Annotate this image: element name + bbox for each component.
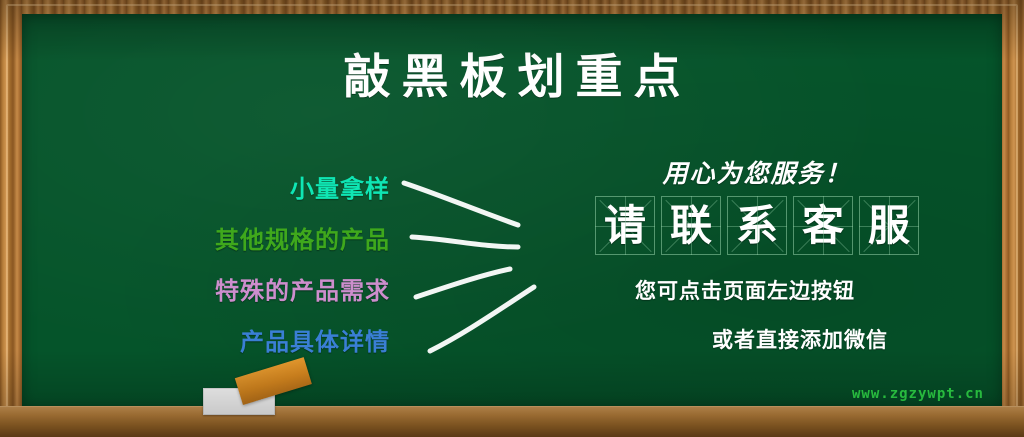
list-item-special-needs: 特殊的产品需求: [22, 266, 390, 317]
chalk-tray: [0, 407, 1024, 437]
grid-char-3: 系: [728, 197, 786, 254]
connector-stroke-4: [430, 287, 534, 351]
grid-cell-5: 服: [859, 196, 919, 255]
grid-char-2: 联: [662, 197, 720, 254]
grid-cell-3: 系: [727, 196, 787, 255]
contact-panel: 用心为您服务！ 请 联 系 客: [522, 154, 992, 354]
blackboard-banner: 敲黑板划重点 小量拿样 其他规格的产品 特殊的产品需求 产品具体详情 用心为您服…: [0, 0, 1024, 437]
grid-cell-1: 请: [595, 196, 655, 255]
keyword-list: 小量拿样 其他规格的产品 特殊的产品需求 产品具体详情: [22, 164, 402, 368]
grid-char-4: 客: [794, 197, 852, 254]
service-slogan: 用心为您服务！: [522, 154, 992, 190]
connector-stroke-1: [404, 183, 518, 225]
list-item-other-specs: 其他规格的产品: [22, 215, 390, 266]
page-title: 敲黑板划重点: [22, 38, 1002, 107]
list-item-sample: 小量拿样: [22, 164, 390, 215]
instruction-line-2: 或者直接添加微信: [522, 324, 992, 354]
grid-char-5: 服: [860, 197, 918, 254]
connector-stroke-3: [416, 269, 510, 297]
grid-cell-4: 客: [793, 196, 853, 255]
list-item-product-details: 产品具体详情: [22, 317, 390, 368]
chalkboard-surface: 敲黑板划重点 小量拿样 其他规格的产品 特殊的产品需求 产品具体详情 用心为您服…: [22, 14, 1002, 408]
instruction-line-1: 您可点击页面左边按钮: [522, 275, 992, 305]
site-watermark: www.zgzywpt.cn: [852, 386, 984, 402]
grid-cell-2: 联: [661, 196, 721, 255]
contact-character-grid: 请 联 系 客 服: [522, 196, 992, 255]
grid-char-1: 请: [596, 197, 654, 254]
connector-stroke-2: [412, 237, 518, 247]
